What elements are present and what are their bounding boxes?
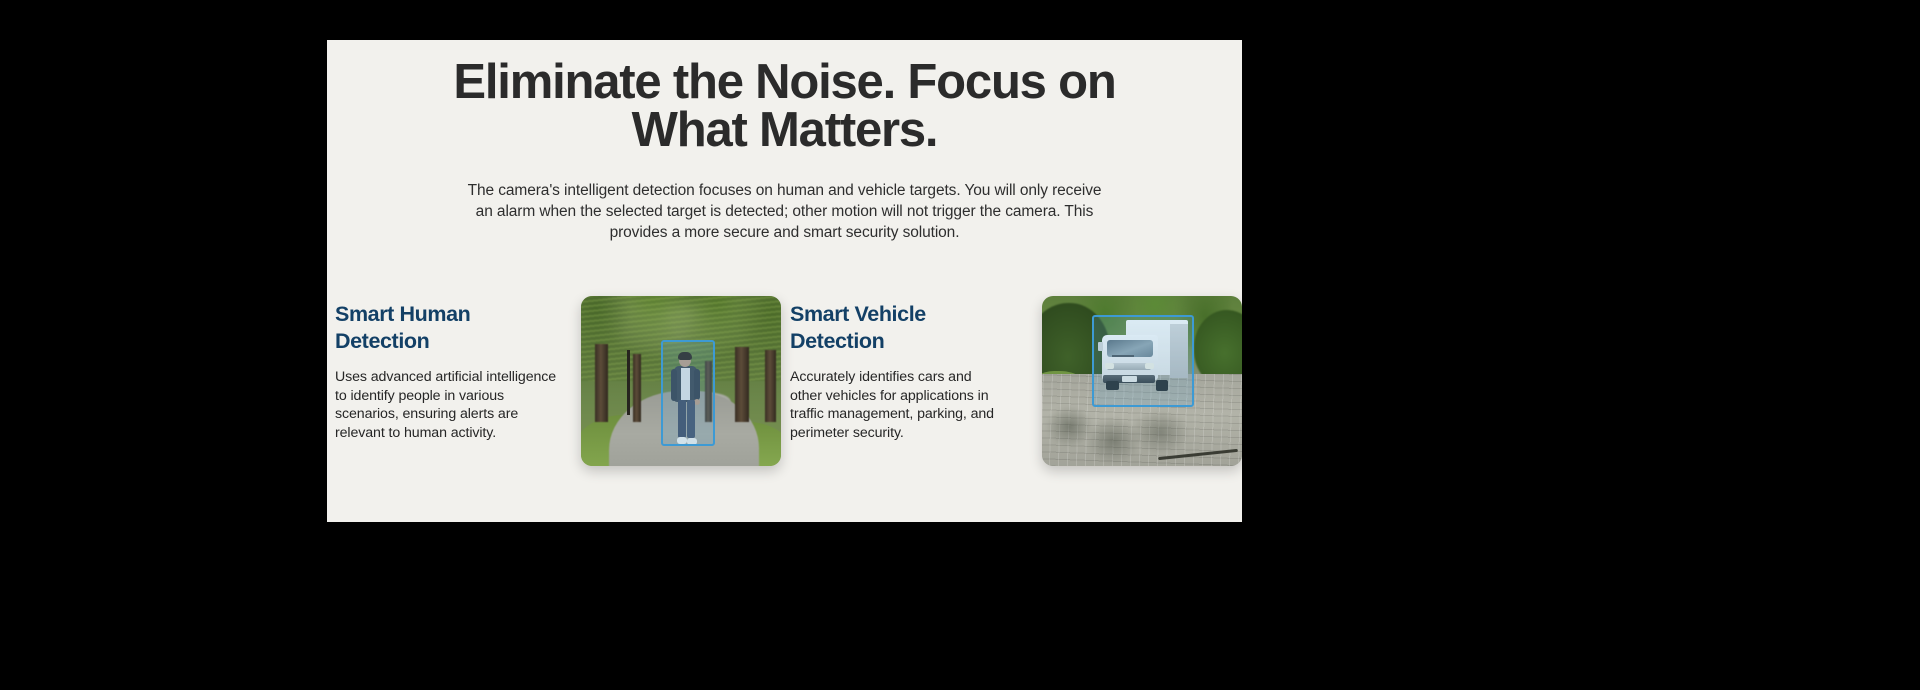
intro-paragraph: The camera's intelligent detection focus…: [465, 180, 1105, 243]
content-panel: Eliminate the Noise. Focus on What Matte…: [327, 40, 1242, 522]
feature-card-vehicle: Smart Vehicle Detection Accurately ident…: [790, 296, 1242, 466]
feature-body-vehicle: Accurately identifies cars and other veh…: [790, 368, 999, 442]
page-headline: Eliminate the Noise. Focus on What Matte…: [435, 40, 1135, 154]
feature-body-human: Uses advanced artificial intelligence to…: [335, 368, 557, 442]
feature-image-human[interactable]: [581, 296, 781, 466]
detection-bounding-box-human: [661, 340, 715, 446]
feature-title-human: Smart Human Detection: [335, 301, 557, 354]
page-root: Eliminate the Noise. Focus on What Matte…: [0, 0, 1920, 690]
feature-row: Smart Human Detection Uses advanced arti…: [327, 296, 1242, 466]
feature-card-human: Smart Human Detection Uses advanced arti…: [335, 296, 790, 466]
feature-text-human: Smart Human Detection Uses advanced arti…: [335, 296, 557, 442]
feature-title-vehicle: Smart Vehicle Detection: [790, 301, 999, 354]
feature-image-vehicle[interactable]: [1042, 296, 1242, 466]
feature-text-vehicle: Smart Vehicle Detection Accurately ident…: [790, 296, 999, 442]
detection-bounding-box-vehicle: [1092, 315, 1194, 407]
